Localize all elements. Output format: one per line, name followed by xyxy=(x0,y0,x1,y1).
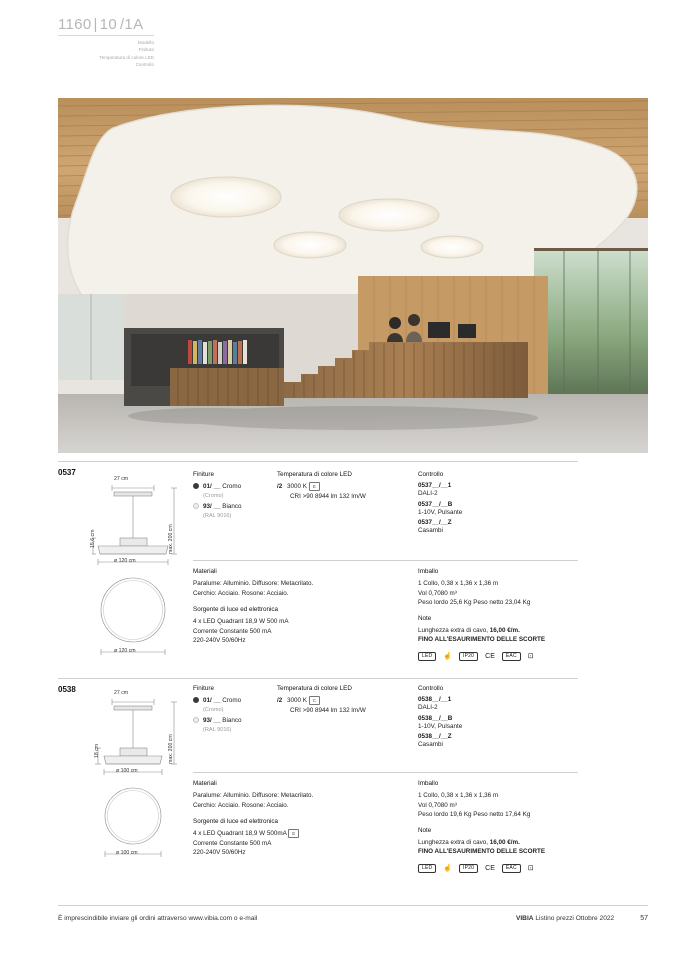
note-text-0537: Lunghezza extra di cavo, xyxy=(418,627,488,634)
finiture-sub-0537-01: (Cromo) xyxy=(203,492,241,501)
cert-row-0537: LED ☝ IP20 CE EAC ⊡ xyxy=(418,652,588,661)
eac-icon: EAC xyxy=(502,864,521,873)
imballo-title-0538: Imballo xyxy=(418,780,588,787)
finiture-col-0537: Finiture 01/ __ Cromo (Cromo) 93/ __ Bia… xyxy=(193,471,273,520)
class2-icon: ⊡ xyxy=(528,652,534,660)
controllo-code-0538-B: 0538__/__B xyxy=(418,715,578,722)
code-line: 1160 | 10 /1A xyxy=(58,16,154,36)
hero-illustration xyxy=(58,98,648,453)
temperatura-specs-0537: CRI >90 8944 lm 132 lm/W xyxy=(290,492,407,502)
finiture-code-0537-01: 01/ xyxy=(203,483,212,490)
temperatura-value-0538: /2 3000 K C xyxy=(277,696,407,706)
note-title-0537: Note xyxy=(418,615,588,622)
sorgente-title-0538: Sorgente di luce ed elettronica xyxy=(193,818,408,825)
materiali-title-0538: Materiali xyxy=(193,780,408,787)
finiture-sub-0537-93: (RAL 9016) xyxy=(203,512,242,521)
finiture-option-white-0538[interactable]: 93/ __ Bianco (RAL 9016) xyxy=(193,716,273,734)
imballo-line2-0538: Vol 0,7080 m³ xyxy=(418,801,588,811)
imballo-line3-0538: Peso lordo 19,6 Kg Peso netto 17,64 Kg xyxy=(418,810,588,820)
divider-mid-0538 xyxy=(193,772,578,773)
legend-finitura: Finitura xyxy=(58,46,154,53)
divider-mid-0537 xyxy=(193,560,578,561)
materiali-line1-0537: Paralume: Alluminio. Diffusore: Metacril… xyxy=(193,579,408,589)
temperatura-title-0537: Temperatura di colore LED xyxy=(277,471,407,478)
energy-label-badge-0538: C xyxy=(309,696,320,705)
note-alert-0538: FINO ALL'ESAURIMENTO DELLE SCORTE xyxy=(418,847,588,857)
note-price-0537: 16,00 €/m. xyxy=(490,627,520,634)
controllo-code-0537-Z: 0537__/__Z xyxy=(418,519,578,526)
sorgente-line1-0538: 4 x LED Quadrant 18,9 W 500mA E xyxy=(193,829,408,839)
controllo-code-0537-1: 0537__/__1 xyxy=(418,482,578,489)
finiture-dots-0537-01: __ xyxy=(214,483,221,490)
code-part-control: /1A xyxy=(120,16,143,33)
note-text-0538: Lunghezza extra di cavo, xyxy=(418,839,488,846)
note-alert-0537: FINO ALL'ESAURIMENTO DELLE SCORTE xyxy=(418,635,588,645)
footer-doc: Listino prezzi Ottobre 2022 xyxy=(535,915,614,922)
footer-brand: VIBIA xyxy=(516,915,534,922)
controllo-code-0538-Z: 0538__/__Z xyxy=(418,733,578,740)
technical-drawing-0538: 27 cm max. 200 cm xyxy=(92,690,182,870)
finiture-sub-0538-93: (RAL 9016) xyxy=(203,726,242,735)
dim-body-height-0538: 18 cm xyxy=(94,726,100,758)
page-footer: È imprescindibile inviare gli ordini att… xyxy=(58,905,648,922)
imballo-line2-0537: Vol 0,7080 m³ xyxy=(418,589,588,599)
footer-note: È imprescindibile inviare gli ordini att… xyxy=(58,915,257,922)
materiali-title-0537: Materiali xyxy=(193,568,408,575)
energy-label-badge-sorgente-0538: E xyxy=(288,829,299,838)
temperatura-specs-0538: CRI >90 8944 lm 132 lm/W xyxy=(290,706,407,716)
note-title-0538: Note xyxy=(418,827,588,834)
finiture-code-0537-93: 93/ xyxy=(203,503,212,510)
hero-photo xyxy=(58,98,648,453)
legend-modello: Modello xyxy=(58,39,154,46)
sorgente-line1-text-0538: 4 x LED Quadrant 18,9 W 500mA xyxy=(193,830,286,837)
sorgente-line2-0537: Corrente Constante 500 mA xyxy=(193,627,408,637)
temperatura-kelvin-0537: 3000 K xyxy=(287,483,307,490)
sorgente-title-0537: Sorgente di luce ed elettronica xyxy=(193,606,408,613)
cert-row-0538: LED ☝ IP20 CE EAC ⊡ xyxy=(418,864,588,873)
finiture-col-0538: Finiture 01/ __ Cromo (Cromo) 93/ __ Bia… xyxy=(193,685,273,734)
legend-controllo: Controllo xyxy=(58,61,154,68)
swatch-chrome-icon xyxy=(193,483,199,489)
controllo-title-0537: Controllo xyxy=(418,471,578,478)
controllo-desc-0538-B: 1-10V, Pulsante xyxy=(418,722,578,732)
dim-max-height-0538: max. 200 cm xyxy=(168,710,174,764)
hand-icon: ☝ xyxy=(443,864,452,872)
sorgente-line3-0537: 220-240V 50/60Hz xyxy=(193,636,408,646)
ce-icon: CE xyxy=(485,865,495,872)
imballo-line3-0537: Peso lordo 25,6 Kg Peso netto 23,04 Kg xyxy=(418,598,588,608)
finiture-title-0538: Finiture xyxy=(193,685,273,692)
temperatura-kelvin-0538: 3000 K xyxy=(287,697,307,704)
temperatura-col-0537: Temperatura di colore LED /2 3000 K E CR… xyxy=(277,471,407,501)
controllo-desc-0538-1: DALI-2 xyxy=(418,703,578,713)
note-line-0537: Lunghezza extra di cavo, 16,00 €/m. xyxy=(418,626,588,636)
materiali-line2-0538: Cerchio: Acciaio. Rosone: Acciaio. xyxy=(193,801,408,811)
finiture-code-0538-93: 93/ xyxy=(203,717,212,724)
materiali-line2-0537: Cerchio: Acciaio. Rosone: Acciaio. xyxy=(193,589,408,599)
swatch-white-icon xyxy=(193,717,199,723)
temperatura-code-0537: /2 xyxy=(277,483,282,490)
controllo-desc-0538-Z: Casambi xyxy=(418,740,578,750)
controllo-title-0538: Controllo xyxy=(418,685,578,692)
controllo-code-0538-1: 0538__/__1 xyxy=(418,696,578,703)
dim-diameter-bottom-0538: ø 100 cm xyxy=(116,850,138,856)
led-icon: LED xyxy=(418,864,436,873)
finiture-sub-0538-01: (Cromo) xyxy=(203,706,241,715)
divider-top-0537 xyxy=(58,461,578,462)
sorgente-line3-0538: 220-240V 50/60Hz xyxy=(193,848,408,858)
imballo-line1-0537: 1 Collo, 0,38 x 1,36 x 1,36 m xyxy=(418,579,588,589)
dim-diameter-bottom-0537: ø 120 cm xyxy=(114,648,136,654)
sorgente-line2-0538: Corrente Constante 500 mA xyxy=(193,839,408,849)
dim-top-width-0537: 27 cm xyxy=(114,476,128,482)
class2-icon: ⊡ xyxy=(528,864,534,872)
dim-diameter-top-0538: ø 100 cm xyxy=(116,768,138,774)
dim-top-width-0538: 27 cm xyxy=(114,690,128,696)
dim-diameter-top-0537: ø 120 cm xyxy=(114,558,136,564)
temperatura-title-0538: Temperatura di colore LED xyxy=(277,685,407,692)
imballo-line1-0538: 1 Collo, 0,38 x 1,36 x 1,36 m xyxy=(418,791,588,801)
code-part-finish: 10 xyxy=(100,16,117,33)
led-icon: LED xyxy=(418,652,436,661)
controllo-col-0537: Controllo 0537__/__1 DALI-2 0537__/__B 1… xyxy=(418,471,578,536)
imballo-col-0537: Imballo 1 Collo, 0,38 x 1,36 x 1,36 m Vo… xyxy=(418,568,588,661)
dim-max-height-0537: max. 200 cm xyxy=(168,496,174,554)
energy-label-badge-0537: E xyxy=(309,482,320,491)
catalog-page: 1160 | 10 /1A Modello Finitura Temperatu… xyxy=(0,0,678,959)
ip20-icon: IP20 xyxy=(459,864,478,873)
footer-right: VIBIA Listino prezzi Ottobre 2022 57 xyxy=(516,915,648,922)
finiture-dots-0538-01: __ xyxy=(214,697,221,704)
code-part-model: 1160 xyxy=(58,16,91,33)
finiture-option-chrome-0537[interactable]: 01/ __ Cromo (Cromo) xyxy=(193,482,273,500)
ip20-icon: IP20 xyxy=(459,652,478,661)
imballo-title-0537: Imballo xyxy=(418,568,588,575)
finiture-name-0538-01: Cromo xyxy=(222,697,241,704)
swatch-chrome-icon xyxy=(193,697,199,703)
controllo-desc-0537-B: 1-10V, Pulsante xyxy=(418,508,578,518)
eac-icon: EAC xyxy=(502,652,521,661)
finiture-dots-0537-93: __ xyxy=(214,503,221,510)
page-number: 57 xyxy=(640,915,648,922)
controllo-col-0538: Controllo 0538__/__1 DALI-2 0538__/__B 1… xyxy=(418,685,578,750)
hand-icon: ☝ xyxy=(443,652,452,660)
temperatura-code-0538: /2 xyxy=(277,697,282,704)
note-line-0538: Lunghezza extra di cavo, 16,00 €/m. xyxy=(418,838,588,848)
finiture-option-chrome-0538[interactable]: 01/ __ Cromo (Cromo) xyxy=(193,696,273,714)
controllo-code-0537-B: 0537__/__B xyxy=(418,501,578,508)
imballo-col-0538: Imballo 1 Collo, 0,38 x 1,36 x 1,36 m Vo… xyxy=(418,780,588,873)
code-separator: | xyxy=(93,16,97,33)
materiali-line1-0538: Paralume: Alluminio. Diffusore: Metacril… xyxy=(193,791,408,801)
dim-body-height-0537: 15,6 cm xyxy=(90,508,96,548)
divider-top-0538 xyxy=(58,678,578,679)
legend-temperatura: Temperatura di colore LED xyxy=(58,54,154,61)
finiture-dots-0538-93: __ xyxy=(214,717,221,724)
temperatura-col-0538: Temperatura di colore LED /2 3000 K C CR… xyxy=(277,685,407,715)
temperatura-value-0537: /2 3000 K E xyxy=(277,482,407,492)
controllo-desc-0537-Z: Casambi xyxy=(418,526,578,536)
product-code-header: 1160 | 10 /1A Modello Finitura Temperatu… xyxy=(58,16,154,69)
finiture-name-0537-01: Cromo xyxy=(222,483,241,490)
swatch-white-icon xyxy=(193,503,199,509)
technical-drawing-0537: 27 cm xyxy=(92,476,182,666)
footer-doc-info: VIBIA Listino prezzi Ottobre 2022 xyxy=(516,915,614,922)
ce-icon: CE xyxy=(485,653,495,660)
code-legend: Modello Finitura Temperatura di colore L… xyxy=(58,39,154,69)
materiali-col-0537: Materiali Paralume: Alluminio. Diffusore… xyxy=(193,568,408,646)
finiture-option-white-0537[interactable]: 93/ __ Bianco (RAL 9016) xyxy=(193,502,273,520)
finiture-name-0537-93: Bianco xyxy=(222,503,241,510)
sorgente-line1-0537: 4 x LED Quadrant 18,9 W 500 mA xyxy=(193,617,408,627)
note-price-0538: 16,00 €/m. xyxy=(490,839,520,846)
finiture-title-0537: Finiture xyxy=(193,471,273,478)
finiture-name-0538-93: Bianco xyxy=(222,717,241,724)
materiali-col-0538: Materiali Paralume: Alluminio. Diffusore… xyxy=(193,780,408,858)
controllo-desc-0537-1: DALI-2 xyxy=(418,489,578,499)
finiture-code-0538-01: 01/ xyxy=(203,697,212,704)
